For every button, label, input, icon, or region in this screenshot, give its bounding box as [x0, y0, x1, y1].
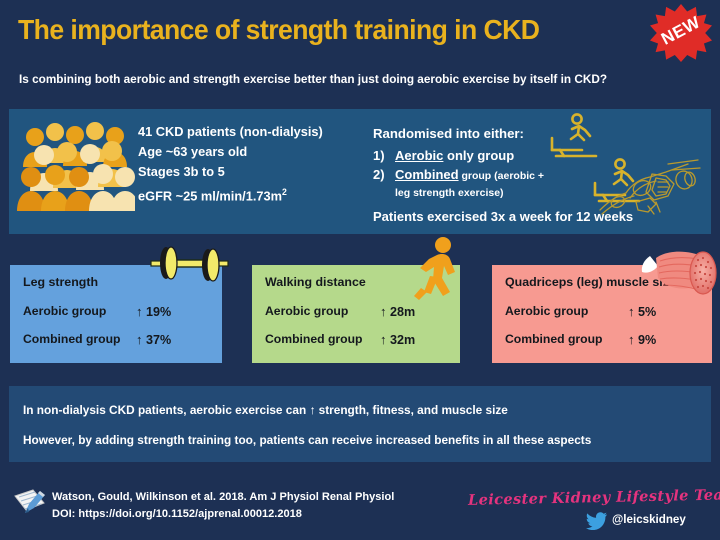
group-rest-2: group (aerobic + [459, 170, 544, 182]
conclusion-panel: In non-dialysis CKD patients, aerobic ex… [9, 386, 711, 462]
dumbbell-icon [148, 242, 230, 286]
quad-aerobic-label: Aerobic group [505, 304, 588, 318]
card-title-leg-strength: Leg strength [23, 275, 98, 289]
walk-aerobic-label: Aerobic group [265, 304, 348, 318]
up-arrow-icon: ↑ [380, 304, 387, 319]
walk-combined-number: 32m [390, 333, 415, 347]
muscle-icon [640, 248, 718, 300]
age-line: Age ~63 years old [138, 142, 323, 162]
walk-aerobic-number: 28m [390, 305, 415, 319]
randomisation-title: Randomised into either: [373, 126, 524, 141]
up-arrow-icon: ↑ [628, 332, 635, 347]
page-subtitle: Is combining both aerobic and strength e… [19, 72, 607, 86]
quad-aerobic-number: 5% [638, 305, 656, 319]
leg-combined-value: ↑ 37% [136, 332, 171, 347]
exercise-frequency: Patients exercised 3x a week for 12 week… [373, 209, 633, 224]
conclusion-line-1: In non-dialysis CKD patients, aerobic ex… [23, 403, 508, 417]
group-number-1: 1) [373, 147, 395, 164]
quad-combined-value: ↑ 9% [628, 332, 656, 347]
up-arrow-icon: ↑ [136, 332, 143, 347]
walk-combined-value: ↑ 32m [380, 332, 415, 347]
group-name-aerobic: Aerobic [395, 148, 443, 163]
leg-aerobic-value: ↑ 19% [136, 304, 171, 319]
leg-aerobic-label: Aerobic group [23, 304, 106, 318]
card-title-walking-distance: Walking distance [265, 275, 366, 289]
egfr-superscript: 2 [282, 187, 287, 197]
citation-line-1: Watson, Gould, Wilkinson et al. 2018. Am… [52, 489, 394, 506]
walking-person-icon [412, 236, 464, 302]
leg-combined-label: Combined group [23, 332, 121, 346]
citation: Watson, Gould, Wilkinson et al. 2018. Am… [52, 489, 394, 523]
page-title: The importance of strength training in C… [18, 14, 539, 46]
quad-combined-number: 9% [638, 333, 656, 347]
twitter-handle[interactable]: @leicskidney [612, 513, 686, 526]
group-number-2: 2) [373, 166, 395, 202]
leg-aerobic-number: 19% [146, 305, 171, 319]
up-arrow-icon: ↑ [136, 304, 143, 319]
quad-combined-label: Combined group [505, 332, 603, 346]
leg-combined-number: 37% [146, 333, 171, 347]
conclusion-line-2: However, by adding strength training too… [23, 433, 591, 447]
walk-combined-label: Combined group [265, 332, 363, 346]
crowd-icon [17, 115, 135, 211]
note-pencil-icon [12, 487, 46, 521]
study-details: 41 CKD patients (non-dialysis) Age ~63 y… [138, 122, 323, 206]
quad-aerobic-value: ↑ 5% [628, 304, 656, 319]
up-arrow-icon: ↑ [380, 332, 387, 347]
group-rest-1: only group [443, 148, 514, 163]
group-name-combined: Combined [395, 167, 459, 182]
leg-press-machine-icon [596, 158, 708, 220]
egfr-text: eGFR ~25 ml/min/1.73m [138, 188, 282, 203]
team-branding: Leicester Kidney Lifestyle Team [468, 486, 720, 509]
new-badge: NEW [650, 4, 712, 62]
twitter-icon[interactable] [586, 512, 608, 530]
citation-line-2: DOI: https://doi.org/10.1152/ajprenal.00… [52, 506, 394, 523]
participants-line: 41 CKD patients (non-dialysis) [138, 122, 323, 142]
infographic-poster: The importance of strength training in C… [0, 0, 720, 540]
up-arrow-icon: ↑ [628, 304, 635, 319]
egfr-line: eGFR ~25 ml/min/1.73m2 [138, 182, 323, 206]
stages-line: Stages 3b to 5 [138, 162, 323, 182]
walk-aerobic-value: ↑ 28m [380, 304, 415, 319]
